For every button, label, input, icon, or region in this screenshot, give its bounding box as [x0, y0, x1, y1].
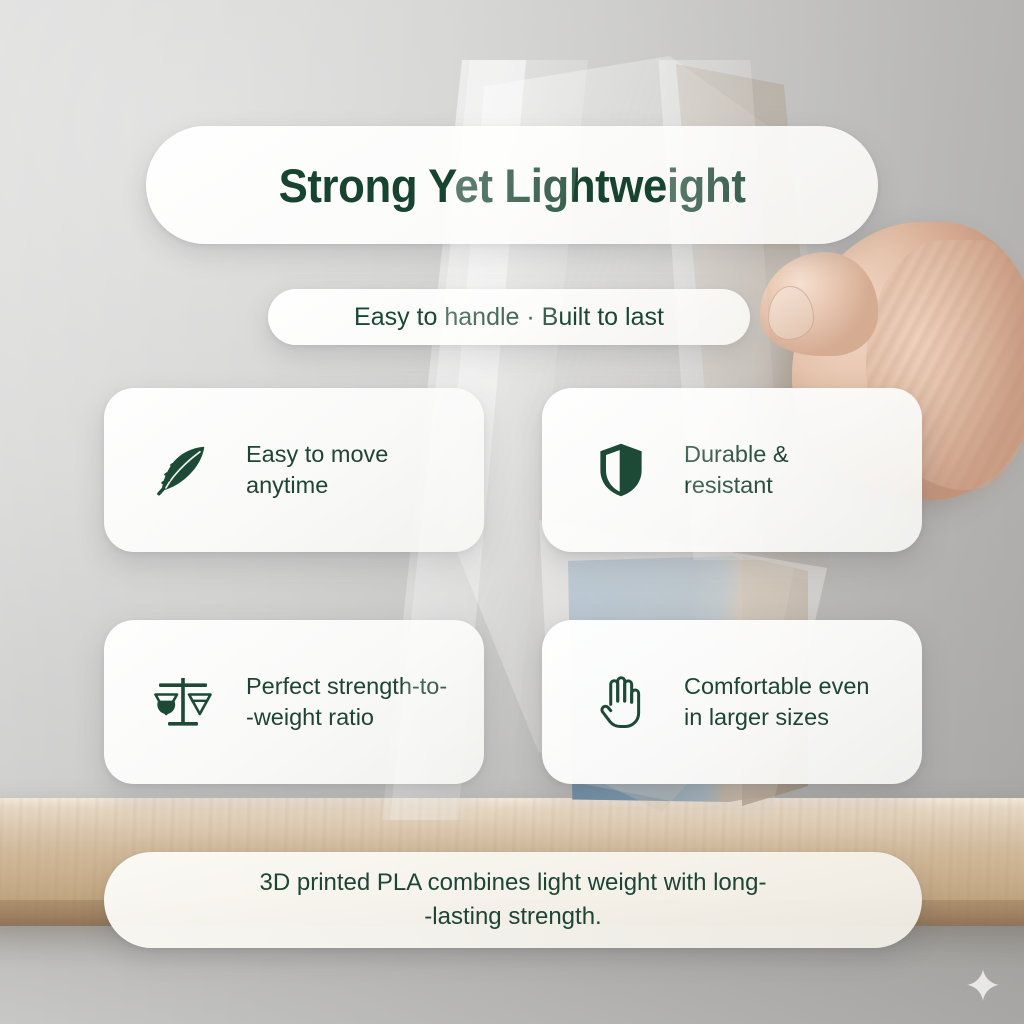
feature-line-1: Easy to move	[246, 441, 388, 467]
page-title: Strong Yet Lightweight	[279, 158, 746, 213]
feature-line-2: anytime	[246, 472, 328, 498]
feature-line-1: Perfect strength-to-	[246, 673, 447, 699]
footer-line-1: 3D printed PLA combines light weight wit…	[260, 869, 767, 896]
footer-pill: 3D printed PLA combines light weight wit…	[104, 852, 922, 948]
footer-line-2: -lasting strength.	[424, 903, 601, 930]
feature-card-durable[interactable]: Durable & resistant	[542, 388, 922, 552]
page-subtitle: Easy to handle · Built to last	[354, 303, 664, 332]
feature-grid: Easy to move anytime Durable & resistant	[104, 388, 922, 784]
feature-card-text: Durable & resistant	[684, 439, 789, 502]
balance-scale-icon	[146, 665, 220, 739]
feature-line-1: Durable &	[684, 441, 789, 467]
feature-line-2: resistant	[684, 472, 773, 498]
shield-icon	[584, 433, 658, 507]
feature-card-comfortable[interactable]: Comfortable even in larger sizes	[542, 620, 922, 784]
title-pill: Strong Yet Lightweight	[146, 126, 878, 244]
feature-line-1: Comfortable even	[684, 673, 870, 699]
feature-card-easy-to-move[interactable]: Easy to move anytime	[104, 388, 484, 552]
infographic-canvas: Strong Yet Lightweight Easy to handle · …	[0, 0, 1024, 1024]
feature-card-text: Comfortable even in larger sizes	[684, 671, 870, 734]
sparkle-icon	[966, 968, 1000, 1002]
feature-line-2: -weight ratio	[246, 704, 374, 730]
subtitle-pill: Easy to handle · Built to last	[268, 289, 750, 345]
feature-card-text: Easy to move anytime	[246, 439, 388, 502]
hand-icon	[584, 665, 658, 739]
feature-card-text: Perfect strength-to- -weight ratio	[246, 671, 447, 734]
feather-icon	[146, 433, 220, 507]
feature-line-2: in larger sizes	[684, 704, 829, 730]
footer-caption: 3D printed PLA combines light weight wit…	[206, 866, 821, 934]
feature-card-strength-to-weight[interactable]: Perfect strength-to- -weight ratio	[104, 620, 484, 784]
